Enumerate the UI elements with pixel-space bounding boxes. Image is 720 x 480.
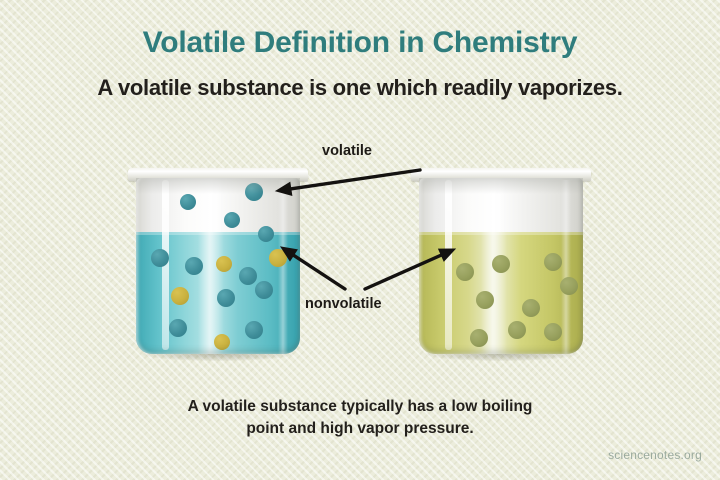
vapor-molecule [180, 194, 196, 210]
liquid-molecule [508, 321, 526, 339]
liquid-molecule [169, 319, 187, 337]
liquid-molecule [171, 287, 189, 305]
liquid-molecule [239, 267, 257, 285]
liquid-molecule [216, 256, 232, 272]
page-subtitle: A volatile substance is one which readil… [0, 75, 720, 101]
liquid-molecule [544, 323, 562, 341]
volatile-solution-beaker [128, 168, 308, 354]
infographic-canvas: Volatile Definition in Chemistry A volat… [0, 0, 720, 480]
caption-line-2: point and high vapor pressure. [0, 418, 720, 440]
page-title: Volatile Definition in Chemistry [0, 26, 720, 60]
caption-text: A volatile substance typically has a low… [0, 396, 720, 440]
liquid-molecule [476, 291, 494, 309]
liquid-molecule [544, 253, 562, 271]
liquid-molecule [255, 281, 273, 299]
caption-line-1: A volatile substance typically has a low… [0, 396, 720, 418]
liquid-molecule [560, 277, 578, 295]
beaker-body [419, 178, 583, 354]
liquid-molecule [269, 249, 287, 267]
watermark: sciencenotes.org [608, 448, 702, 462]
liquid-molecule [522, 299, 540, 317]
glass-highlight-right [278, 180, 288, 354]
vapor-molecule [258, 226, 274, 242]
vapor-molecule [245, 183, 263, 201]
liquid-molecule [492, 255, 510, 273]
liquid-molecule [245, 321, 263, 339]
vapor-molecule [224, 212, 240, 228]
liquid-molecule [185, 257, 203, 275]
annotation-label-volatile: volatile [322, 143, 372, 159]
liquid-molecule [217, 289, 235, 307]
beaker-body [136, 178, 300, 354]
annotation-label-nonvolatile: nonvolatile [305, 296, 382, 312]
liquid-molecule [151, 249, 169, 267]
liquid-molecule [470, 329, 488, 347]
liquid-molecule [456, 263, 474, 281]
glass-highlight [445, 180, 452, 350]
glass-highlight-right [561, 180, 571, 354]
nonvolatile-solution-beaker [411, 168, 591, 354]
liquid-molecule [214, 334, 230, 350]
